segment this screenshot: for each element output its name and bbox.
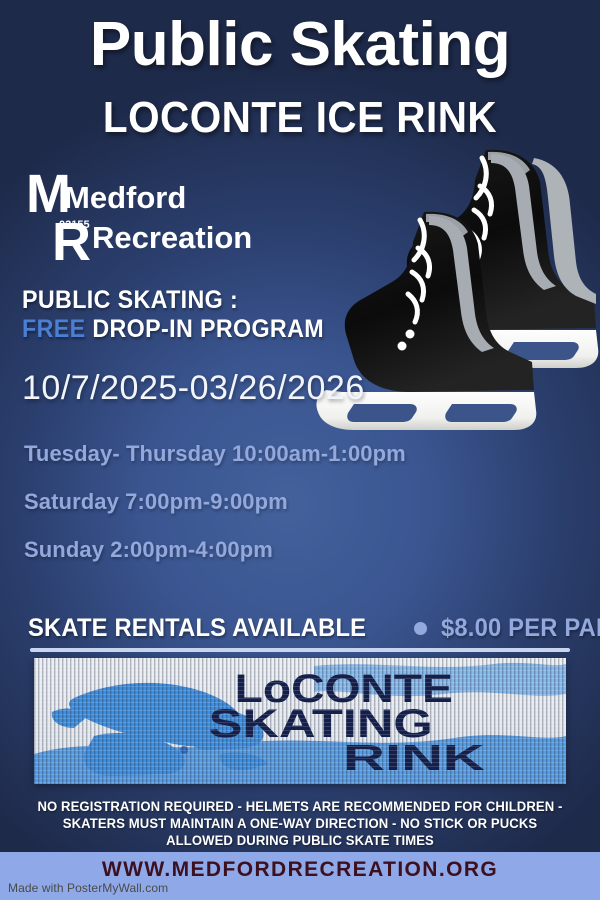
postermywall-watermark: Made with PosterMyWall.com xyxy=(8,881,168,895)
schedule-item: Tuesday- Thursday 10:00am-1:00pm xyxy=(24,443,406,465)
rentals-price: $8.00 PER PAIR xyxy=(441,614,600,643)
fine-print-line: SKATERS MUST MAINTAIN A ONE-WAY DIRECTIO… xyxy=(9,815,591,832)
fine-print-line: NO REGISTRATION REQUIRED - HELMETS ARE R… xyxy=(9,798,591,815)
logo-text-recreation: Recreation xyxy=(92,220,252,255)
website-url[interactable]: WWW.MEDFORDRECREATION.ORG xyxy=(0,858,600,882)
medford-recreation-logo: M Medford R Recreation 02155 xyxy=(26,168,256,260)
footer-bar: WWW.MEDFORDRECREATION.ORG Made with Post… xyxy=(0,852,600,900)
schedule-item: Sunday 2:00pm-4:00pm xyxy=(24,539,406,561)
fine-print: NO REGISTRATION REQUIRED - HELMETS ARE R… xyxy=(0,798,600,849)
divider-line xyxy=(30,648,570,652)
page-subtitle: LOCONTE ICE RINK xyxy=(24,96,576,140)
date-range: 10/7/2025-03/26/2026 xyxy=(22,369,365,408)
program-heading: PUBLIC SKATING : xyxy=(22,286,324,315)
schedule-item: Saturday 7:00pm-9:00pm xyxy=(24,491,406,513)
logo-zip-code: 02155 xyxy=(59,219,90,231)
program-subheading: FREE DROP-IN PROGRAM xyxy=(22,315,324,344)
loconte-rink-banner-image: LoCONTE SKATING RINK xyxy=(34,658,566,784)
logo-text-medford: Medford xyxy=(64,180,186,215)
poster-canvas: Public Skating LOCONTE ICE RINK xyxy=(0,0,600,900)
skate-rentals-row: SKATE RENTALS AVAILABLE $8.00 PER PAIR xyxy=(28,614,574,643)
page-title: Public Skating xyxy=(0,14,600,76)
drop-in-label: DROP-IN PROGRAM xyxy=(92,315,324,343)
free-label: FREE xyxy=(22,315,86,343)
rentals-label: SKATE RENTALS AVAILABLE xyxy=(28,614,366,643)
bullet-dot-icon xyxy=(414,622,427,635)
program-info: PUBLIC SKATING : FREE DROP-IN PROGRAM xyxy=(22,286,347,344)
schedule-list: Tuesday- Thursday 10:00am-1:00pm Saturda… xyxy=(24,443,406,587)
fine-print-line: ALLOWED DURING PUBLIC SKATE TIMES xyxy=(9,832,591,849)
